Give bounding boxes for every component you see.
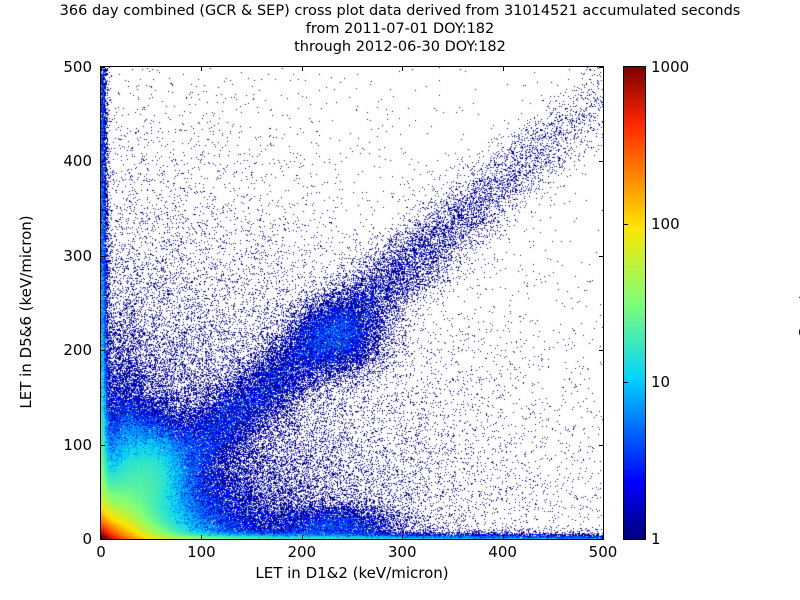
colorbar-tick-mark xyxy=(624,382,628,383)
y-tick-label: 400 xyxy=(30,152,92,170)
colorbar-tick-label: 10 xyxy=(651,373,670,391)
colorbar-tick-label: 100 xyxy=(651,215,680,233)
y-tick-mark xyxy=(101,161,105,162)
title-line-2: from 2011-07-01 DOY:182 xyxy=(0,20,800,38)
x-tick-mark-top xyxy=(402,67,403,71)
y-tick-mark-right xyxy=(599,445,603,446)
y-tick-mark-right xyxy=(599,539,603,540)
x-axis-label: LET in D1&2 (keV/micron) xyxy=(100,564,604,582)
title-line-1: 366 day combined (GCR & SEP) cross plot … xyxy=(0,2,800,20)
y-tick-label: 100 xyxy=(30,436,92,454)
y-tick-mark-right xyxy=(599,161,603,162)
figure-canvas: 366 day combined (GCR & SEP) cross plot … xyxy=(0,0,800,600)
colorbar-tick-label: 1 xyxy=(651,530,661,548)
y-tick-mark-right xyxy=(599,350,603,351)
density-heatmap xyxy=(101,67,603,539)
x-tick-mark xyxy=(302,535,303,539)
y-axis-label: LET in D5&6 (keV/micron) xyxy=(17,162,35,462)
y-tick-mark xyxy=(101,445,105,446)
colorbar-label: Counts xyxy=(796,212,800,412)
plot-title: 366 day combined (GCR & SEP) cross plot … xyxy=(0,2,800,56)
x-tick-label: 500 xyxy=(589,543,618,561)
y-tick-mark xyxy=(101,539,105,540)
title-line-3: through 2012-06-30 DOY:182 xyxy=(0,38,800,56)
x-tick-mark-top xyxy=(201,67,202,71)
x-tick-label: 400 xyxy=(488,543,517,561)
y-tick-mark-right xyxy=(599,256,603,257)
colorbar-gradient xyxy=(624,67,645,539)
x-tick-mark xyxy=(201,535,202,539)
x-tick-mark xyxy=(402,535,403,539)
x-tick-mark xyxy=(603,535,604,539)
colorbar-tick-label: 1000 xyxy=(651,58,689,76)
y-tick-label: 300 xyxy=(30,247,92,265)
x-tick-label: 100 xyxy=(187,543,216,561)
y-tick-label: 500 xyxy=(30,58,92,76)
x-tick-mark-top xyxy=(603,67,604,71)
x-tick-mark-top xyxy=(503,67,504,71)
y-tick-label: 0 xyxy=(30,530,92,548)
colorbar xyxy=(623,66,646,540)
colorbar-tick-mark xyxy=(624,224,628,225)
y-tick-mark xyxy=(101,256,105,257)
x-tick-label: 0 xyxy=(96,543,106,561)
x-tick-label: 300 xyxy=(388,543,417,561)
y-tick-mark xyxy=(101,350,105,351)
x-tick-label: 200 xyxy=(287,543,316,561)
plot-axes xyxy=(100,66,604,540)
x-tick-mark-top xyxy=(302,67,303,71)
x-tick-mark xyxy=(503,535,504,539)
y-tick-mark xyxy=(101,67,105,68)
y-tick-mark-right xyxy=(599,67,603,68)
y-tick-label: 200 xyxy=(30,341,92,359)
